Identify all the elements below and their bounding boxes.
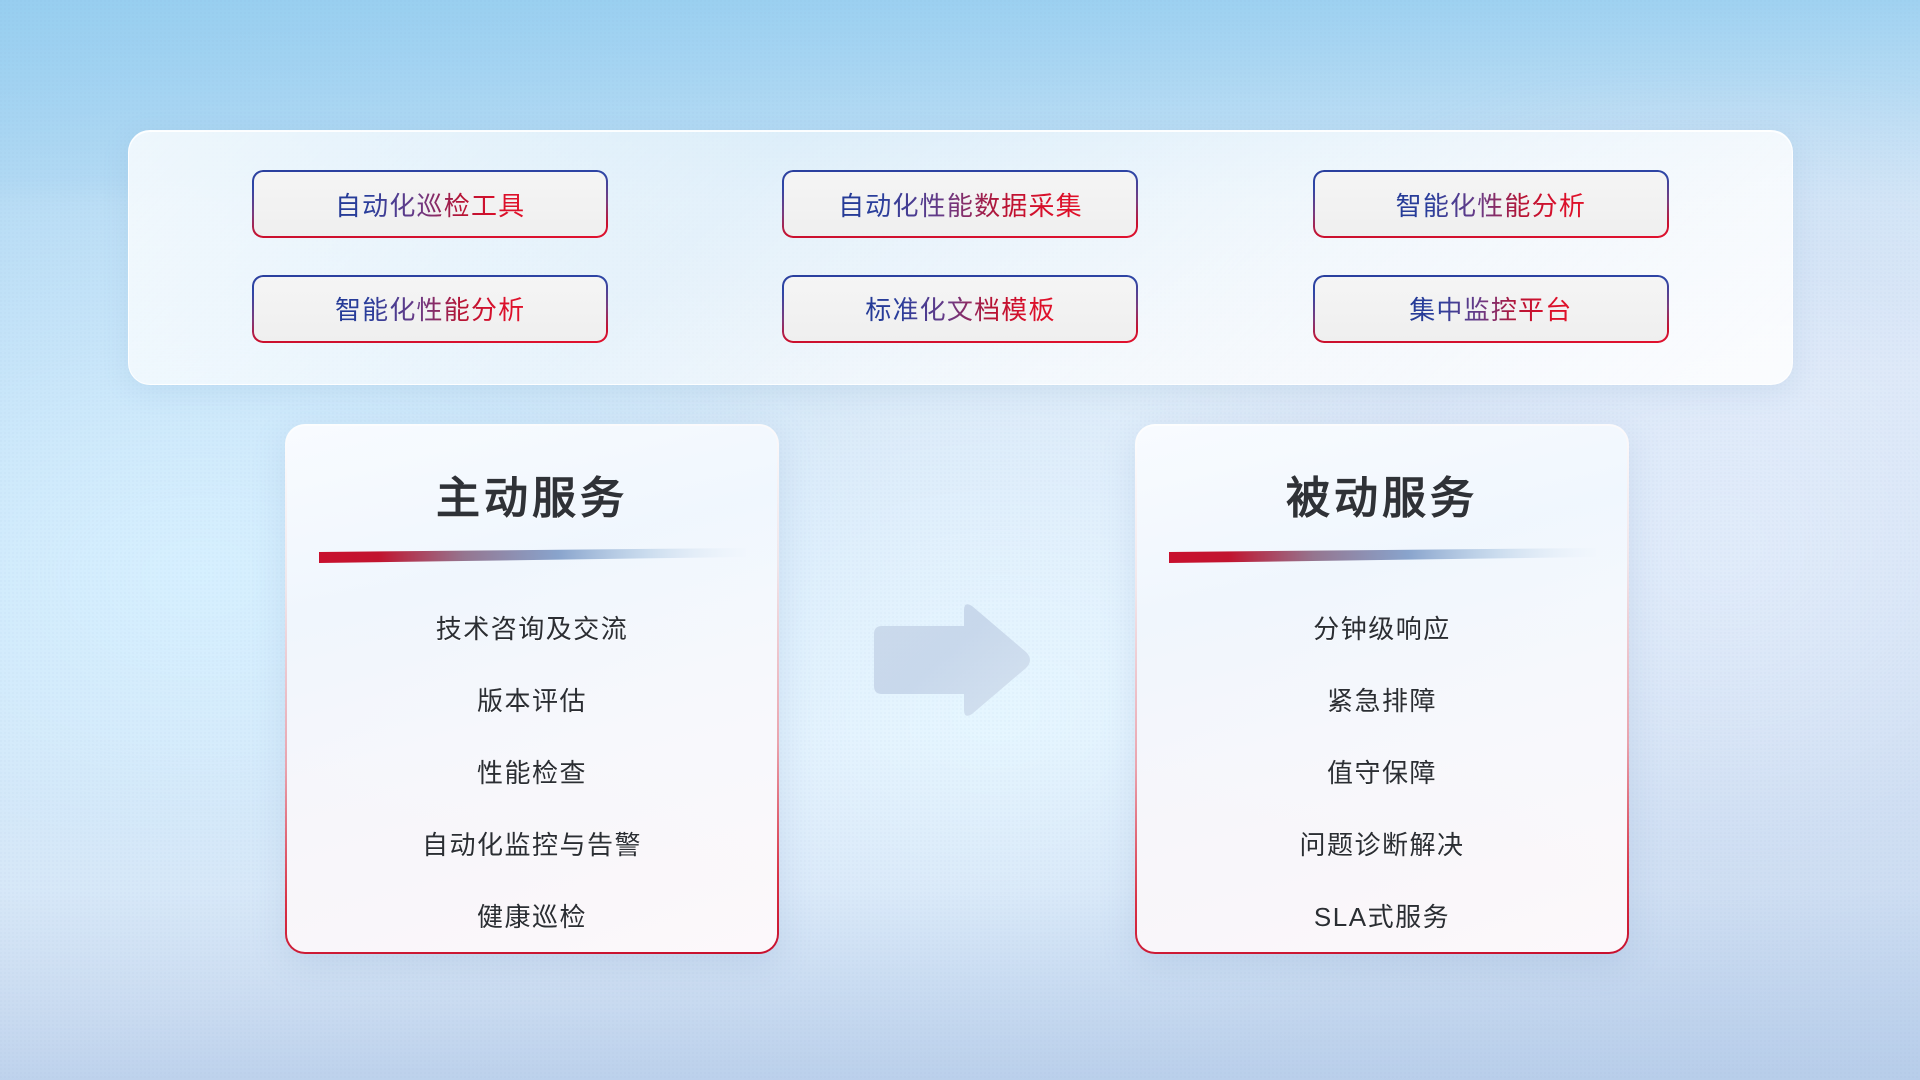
card-list-item: 紧急排障 — [1327, 665, 1437, 737]
title-gradient-rule — [319, 548, 746, 565]
capability-tag[interactable]: 标准化文档模板 — [782, 275, 1138, 343]
capability-panel: 自动化巡检工具 自动化性能数据采集 智能化性能分析 智能化性能分析 标准 — [128, 130, 1793, 385]
service-card-passive[interactable]: 被动服务 — [1135, 424, 1629, 954]
card-list-item: 问题诊断解决 — [1299, 809, 1464, 881]
service-card-active[interactable]: 主动服务 — [285, 424, 779, 954]
capability-tag[interactable]: 自动化巡检工具 — [252, 170, 608, 238]
capability-tag[interactable]: 智能化性能分析 — [1313, 170, 1669, 238]
card-list-item: 性能检查 — [477, 737, 587, 809]
card-body: 被动服务 — [1137, 426, 1627, 952]
card-list-item: SLA式服务 — [1314, 881, 1450, 952]
card-list-item: 分钟级响应 — [1313, 593, 1451, 665]
card-title: 被动服务 — [1286, 462, 1478, 526]
card-list-item: 技术咨询及交流 — [436, 593, 629, 665]
card-list-item: 值守保障 — [1327, 737, 1437, 809]
title-gradient-rule — [1169, 548, 1596, 565]
capability-tag-label: 标准化文档模板 — [865, 290, 1055, 327]
capability-tag-label: 自动化性能数据采集 — [838, 186, 1083, 223]
capability-tag-grid: 自动化巡检工具 自动化性能数据采集 智能化性能分析 智能化性能分析 标准 — [129, 131, 1792, 384]
card-item-list: 技术咨询及交流 版本评估 性能检查 自动化监控与告警 健康巡检 — [287, 593, 777, 952]
capability-tag-label: 智能化性能分析 — [1396, 186, 1586, 223]
arrow-right-icon — [866, 600, 1036, 720]
capability-tag-label: 自动化巡检工具 — [335, 186, 525, 223]
capability-tag[interactable]: 自动化性能数据采集 — [782, 170, 1138, 238]
card-body: 主动服务 — [287, 426, 777, 952]
card-list-item: 自动化监控与告警 — [422, 809, 642, 881]
card-title: 主动服务 — [436, 462, 628, 526]
capability-tag[interactable]: 智能化性能分析 — [252, 275, 608, 343]
capability-tag-label: 集中监控平台 — [1409, 290, 1572, 327]
card-list-item: 版本评估 — [477, 665, 587, 737]
capability-tag-label: 智能化性能分析 — [335, 290, 525, 327]
capability-tag[interactable]: 集中监控平台 — [1313, 275, 1669, 343]
card-list-item: 健康巡检 — [477, 881, 587, 952]
card-item-list: 分钟级响应 紧急排障 值守保障 问题诊断解决 SLA式服务 — [1137, 593, 1627, 952]
diagram-stage: 自动化巡检工具 自动化性能数据采集 智能化性能分析 智能化性能分析 标准 — [0, 0, 1920, 1080]
